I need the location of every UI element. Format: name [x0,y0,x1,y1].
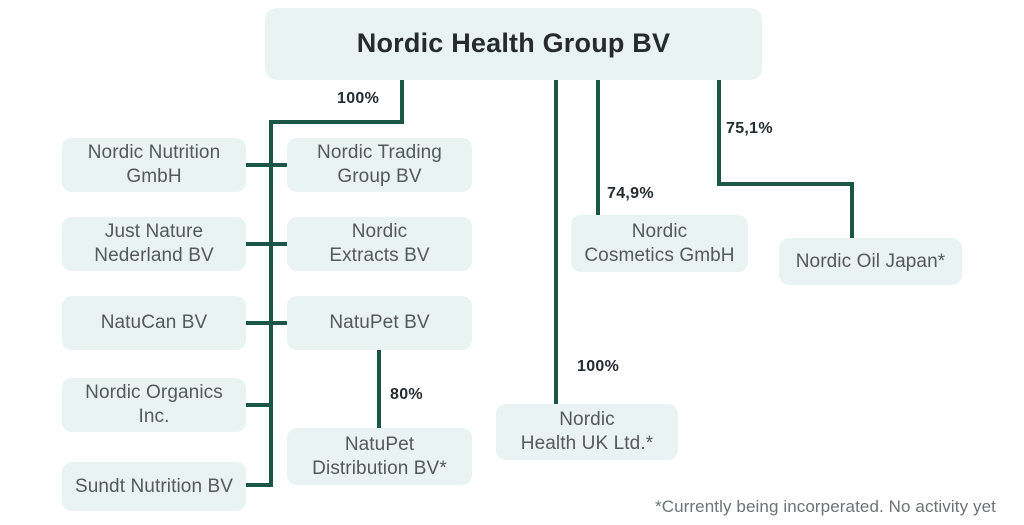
connector-root-to-health-uk [554,80,558,405]
node-natupet-distribution-bv[interactable]: NatuPet Distribution BV* [287,428,472,485]
connector-oil-japan-elbow-horizontal [717,182,854,186]
percent-label-74-9-cosmetics: 74,9% [607,185,654,203]
percent-label-100-health-uk: 100% [577,358,619,376]
connector-spine-to-justnature [246,242,271,246]
node-nordic-nutrition-gmbh[interactable]: Nordic Nutrition GmbH [62,138,246,192]
footnote-incorporation-note: *Currently being incorperated. No activi… [655,497,996,517]
connector-root-to-cosmetics [596,80,600,216]
percent-label-80-natupet-distribution: 80% [390,386,423,404]
percent-label-100-left-branch: 100% [337,90,379,108]
node-natucan-bv[interactable]: NatuCan BV [62,296,246,350]
node-nordic-cosmetics-gmbh[interactable]: Nordic Cosmetics GmbH [571,215,748,272]
connector-oil-japan-descent [850,182,854,240]
connector-spine-to-natupet [269,321,289,325]
node-nordic-trading-group-bv[interactable]: Nordic Trading Group BV [287,138,472,192]
connector-root-to-oil-japan-drop [717,80,721,186]
connector-spine-to-extracts [269,242,289,246]
node-nordic-oil-japan[interactable]: Nordic Oil Japan* [779,238,962,285]
percent-label-75-1-oil-japan: 75,1% [726,120,773,138]
connector-spine-to-sundt [246,483,273,487]
node-nordic-health-uk-ltd[interactable]: Nordic Health UK Ltd.* [496,404,678,460]
org-chart-canvas: 100% 75,1% 74,9% 100% 80% Nordic Health … [0,0,1024,525]
node-nordic-organics-inc[interactable]: Nordic Organics Inc. [62,378,246,432]
node-just-nature-nederland-bv[interactable]: Just Nature Nederland BV [62,217,246,271]
node-nordic-extracts-bv[interactable]: Nordic Extracts BV [287,217,472,271]
connector-root-elbow-horizontal [269,120,404,124]
connector-spine-to-trading [269,163,289,167]
connector-left-branch-spine [269,120,273,487]
node-natupet-bv[interactable]: NatuPet BV [287,296,472,350]
node-sundt-nutrition-bv[interactable]: Sundt Nutrition BV [62,462,246,511]
connector-root-to-left-branch-drop [400,80,404,124]
connector-spine-to-organics [246,403,271,407]
node-nordic-health-group-bv[interactable]: Nordic Health Group BV [265,8,762,80]
connector-natupet-to-distribution [377,350,381,428]
connector-spine-to-natucan [246,321,271,325]
connector-spine-to-nutrition [246,163,271,167]
